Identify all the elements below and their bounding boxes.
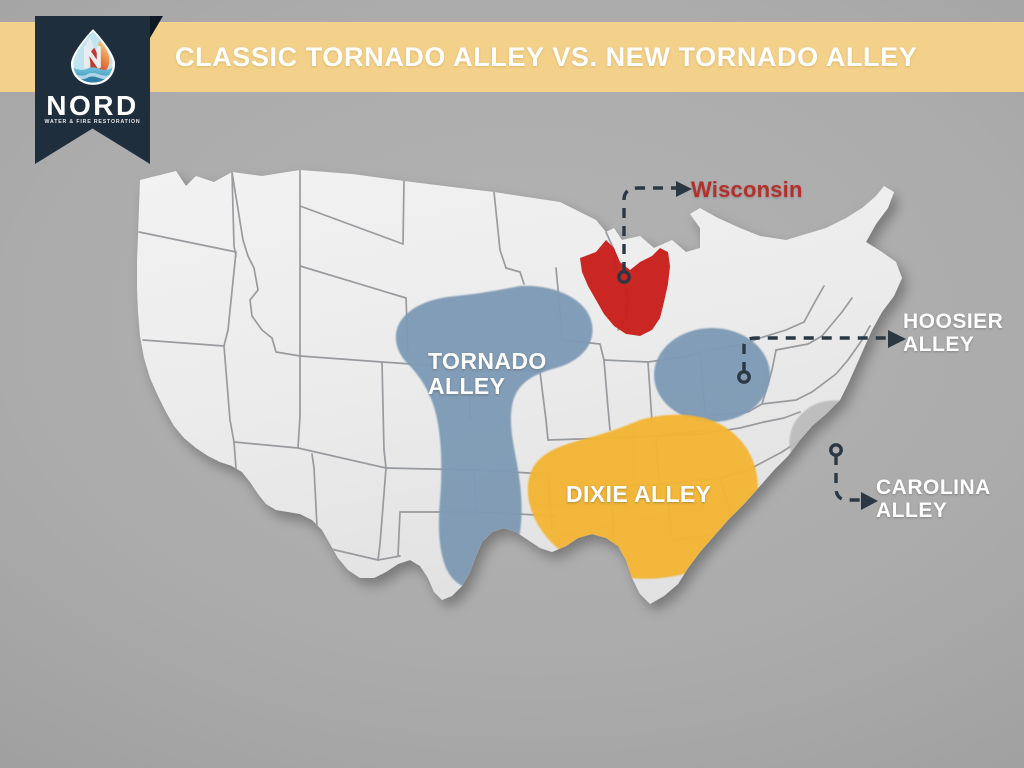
nord-droplet-flame-logo — [64, 28, 122, 86]
infographic-canvas: TORNADO ALLEY DIXIE ALLEY Wisconsin HOOS… — [0, 0, 1024, 768]
callout-label-hoosier-alley: HOOSIER ALLEY — [903, 310, 1003, 356]
callout-label-carolina-alley: CAROLINA ALLEY — [876, 476, 991, 522]
region-label-tornado-alley: TORNADO ALLEY — [428, 349, 547, 399]
page-title: CLASSIC TORNADO ALLEY VS. NEW TORNADO AL… — [175, 22, 1004, 92]
region-label-dixie-alley: DIXIE ALLEY — [566, 482, 711, 507]
logo-tagline: WATER & FIRE RESTORATION — [35, 120, 150, 125]
title-banner: CLASSIC TORNADO ALLEY VS. NEW TORNADO AL… — [0, 22, 1024, 92]
arrowhead-wisconsin — [676, 181, 692, 197]
region-hoosier-alley — [654, 328, 770, 422]
logo-wordmark: NORD — [35, 92, 150, 120]
callout-label-wisconsin: Wisconsin — [691, 178, 803, 202]
region-carolina-alley — [790, 400, 889, 481]
connector-carolina — [836, 455, 862, 500]
marker-carolina — [831, 445, 841, 455]
